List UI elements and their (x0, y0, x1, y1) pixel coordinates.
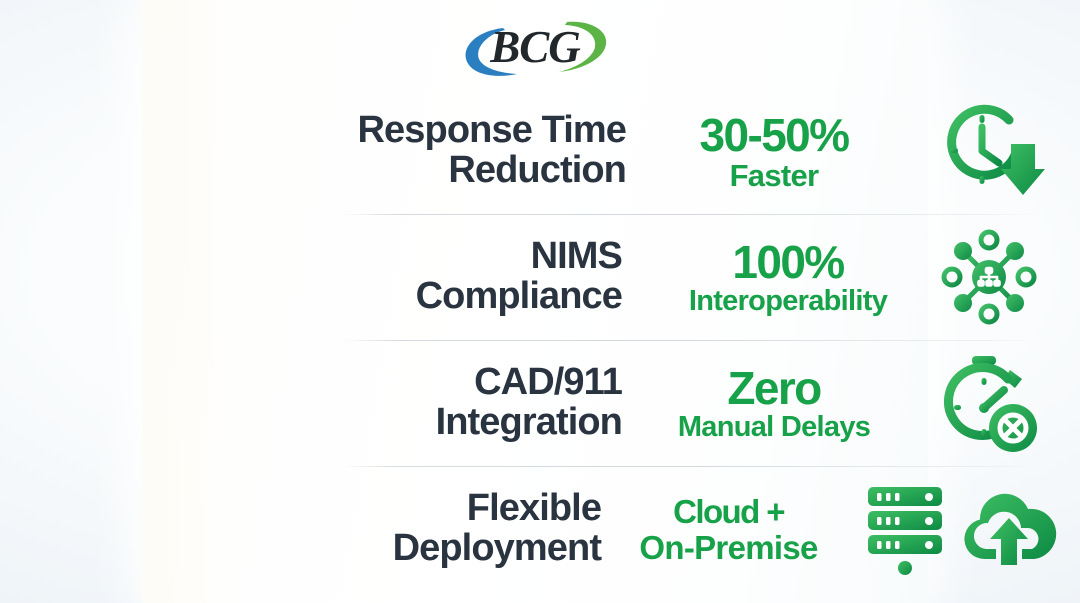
metric-label-line1: CAD/911 (284, 363, 622, 403)
row-divider (342, 340, 1036, 341)
network-hub-icon (939, 227, 1039, 327)
row-divider (342, 214, 1036, 215)
metric-value-primary: Zero (636, 365, 912, 411)
cloud-upload-icon (956, 487, 1060, 571)
metric-value-primary: Cloud + (599, 495, 858, 528)
metric-label: Flexible Deployment (284, 489, 615, 568)
metrics-list: Response Time Reduction 30-50% Faster (284, 88, 1070, 592)
metric-label: NIMS Compliance (284, 237, 636, 316)
metric-value: Zero Manual Delays (636, 365, 912, 442)
metric-value-secondary: Interoperability (650, 287, 926, 316)
metric-row-nims-compliance: NIMS Compliance 100% Interoperability (284, 214, 1070, 340)
metric-label-line1: Response Time (288, 111, 626, 151)
logo-wordmark: BCG (489, 22, 580, 72)
metric-value: Cloud + On-Premise (599, 495, 858, 564)
metric-label: Response Time Reduction (288, 111, 640, 190)
stopwatch-cancel-icon (938, 352, 1040, 454)
metric-value-secondary: Manual Delays (636, 413, 912, 442)
clock-down-arrow-icon (937, 103, 1045, 199)
metric-label: CAD/911 Integration (284, 363, 636, 442)
metric-label-line2: Integration (284, 403, 622, 443)
brand-logo: BCG (142, 16, 928, 82)
metric-icons (912, 103, 1070, 199)
metric-label-line1: NIMS (284, 237, 622, 277)
metric-value: 100% Interoperability (650, 239, 926, 316)
metric-value: 30-50% Faster (636, 112, 912, 191)
metric-label-line2: Deployment (284, 529, 601, 569)
metric-label-line2: Reduction (288, 151, 626, 191)
metric-icons (910, 227, 1068, 327)
metric-row-cad-911-integration: CAD/911 Integration Zero Manual Delays (284, 340, 1070, 466)
metric-label-line1: Flexible (284, 489, 601, 529)
metric-value-primary: 100% (650, 239, 926, 285)
row-divider (342, 466, 1036, 467)
metric-value-secondary: Faster (636, 160, 912, 191)
metric-icons (864, 483, 1060, 575)
metric-icons (910, 352, 1068, 454)
metric-row-response-time-reduction: Response Time Reduction 30-50% Faster (284, 88, 1070, 214)
metric-label-line2: Compliance (284, 277, 622, 317)
metric-value-primary: 30-50% (636, 112, 912, 158)
server-rack-icon (864, 483, 946, 575)
metric-row-flexible-deployment: Flexible Deployment Cloud + On-Premise (284, 466, 1070, 592)
metric-value-secondary: On-Premise (599, 531, 858, 564)
content-card: BCG Response Time Reduction 30-50% Faste… (142, 0, 928, 603)
page-background: BCG Response Time Reduction 30-50% Faste… (0, 0, 1080, 603)
